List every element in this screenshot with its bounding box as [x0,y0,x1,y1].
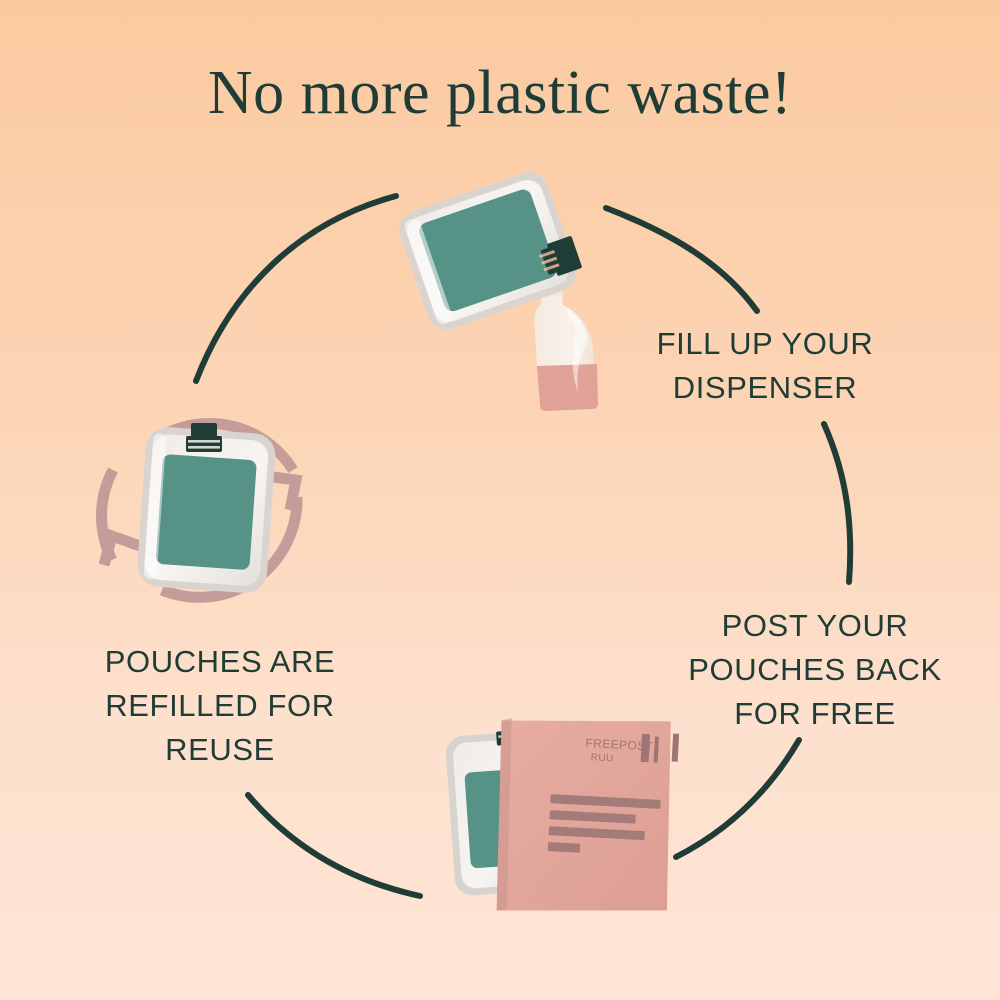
postage-bar-3 [672,734,679,762]
arc-right [824,424,850,582]
pouch-spout-left [186,423,222,452]
arc-bottom-left [248,795,420,896]
step-caption-refill: POUCHES ARE REFILLED FOR REUSE [60,640,380,772]
step-caption-post: POST YOUR POUCHES BACK FOR FREE [670,604,960,736]
step-caption-fill: FILL UP YOUR DISPENSER [615,322,915,410]
spout-cap [191,423,217,437]
arc-top-right [606,208,757,311]
pouch-label [155,454,256,570]
freepost-sub-label: RUU [590,752,613,764]
illustration-refilled-for-reuse [102,423,297,597]
postage-bar-1 [641,734,650,762]
spout-rib-2 [188,446,220,449]
spout-rib-1 [188,440,220,443]
arc-top-left [196,196,396,381]
illustration-post-pouches: FREEPOST RUU [445,713,680,920]
address-line-4 [548,842,580,853]
cycle-illustration: FREEPOST RUU [0,0,1000,1000]
bottle-liquid [537,364,598,411]
illustration-fill-dispenser [394,167,598,411]
arc-bottom-right [676,740,799,857]
freepost-envelope: FREEPOST RUU [492,713,680,920]
infographic-poster: No more plastic waste! [0,0,1000,1000]
spout-threads [186,436,222,452]
recycle-arrowhead-left [104,536,140,565]
